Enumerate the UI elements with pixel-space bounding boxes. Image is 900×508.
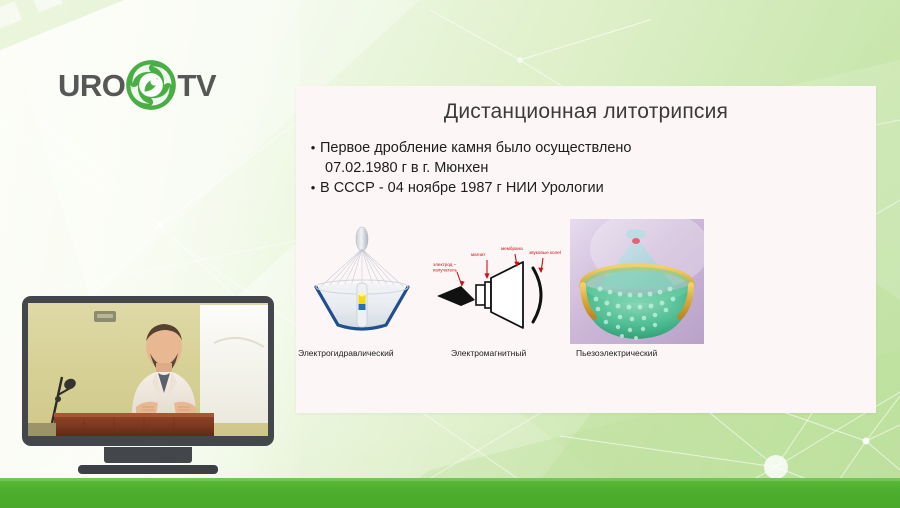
figure-caption: Электрогидравлический — [298, 348, 394, 358]
video-screen[interactable] — [28, 303, 268, 436]
slide-title: Дистанционная литотрипсия — [296, 100, 876, 124]
annotation-magnet: магнит — [471, 252, 486, 257]
slide-screenshot: URO TV Дистанционная литотрипсия • — [0, 0, 900, 508]
monitor-stand-base — [78, 465, 218, 474]
lithotripter-figures: Электрогидравлический — [296, 216, 876, 406]
logo-text-tv: TV — [177, 70, 216, 101]
bullet-text-line: В СССР - 04 ноябре 1987 г НИИ Урологии — [320, 178, 866, 198]
bullet-text-line: Первое дробление камня было осуществлено — [320, 138, 866, 158]
figure-caption: Пьезоэлектрический — [576, 348, 657, 358]
list-item: • Первое дробление камня было осуществле… — [306, 138, 866, 178]
annotation-electrode: электрод – — [433, 262, 457, 267]
figure-caption: Электромагнитный — [451, 348, 526, 358]
bullet-marker-icon: • — [306, 138, 320, 158]
annotation-sound-waves: звуковые колебания — [529, 250, 561, 255]
bullet-text-continuation: 07.02.1980 г в г. Мюнхен — [306, 158, 866, 178]
electrohydraulic-lithotripter-diagram — [302, 221, 422, 341]
monitor-bezel — [22, 296, 274, 446]
logo-text-uro: URO — [58, 70, 125, 101]
slide-panel: Дистанционная литотрипсия • Первое дробл… — [296, 86, 876, 413]
slide-bullet-list: • Первое дробление камня было осуществле… — [306, 138, 866, 198]
piezoelectric-lithotripter-diagram — [570, 219, 704, 344]
bottom-green-bar — [0, 478, 900, 508]
annotation-emitter: излучатель — [433, 268, 458, 273]
uro-tv-logo: URO TV — [58, 58, 216, 112]
annotation-membrane: мембрана — [501, 246, 523, 251]
monitor-stand-neck — [104, 447, 192, 463]
lecture-video-monitor — [22, 296, 274, 474]
list-item: • В СССР - 04 ноябре 1987 г НИИ Урологии — [306, 178, 866, 198]
electromagnetic-lithotripter-diagram: электрод – излучатель магнит мембрана зв… — [431, 242, 561, 342]
uro-emblem-icon — [124, 58, 178, 112]
bullet-marker-icon: • — [306, 178, 320, 198]
